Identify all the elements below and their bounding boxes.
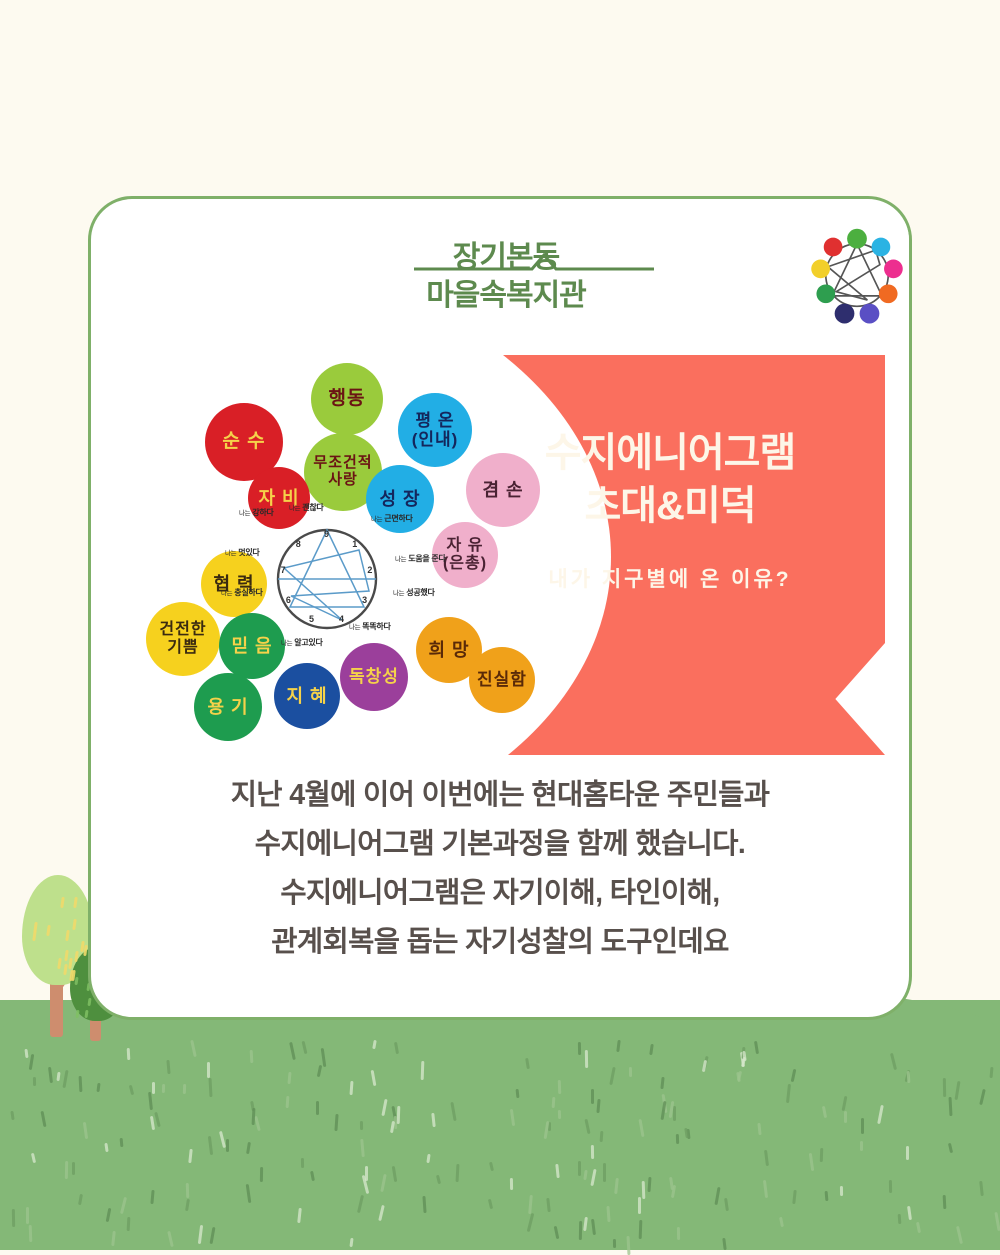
- grass-blade: [877, 1105, 884, 1124]
- grass-blade: [426, 1154, 430, 1163]
- grass-blade: [41, 1111, 47, 1127]
- enneagram-statement: 나는 도움을 준다: [395, 553, 446, 564]
- virtue-node: 용 기: [194, 673, 262, 741]
- grass-blade: [907, 1206, 912, 1220]
- grass-blade: [792, 1190, 796, 1204]
- grass-blade: [616, 1040, 620, 1052]
- grass-blade: [246, 1184, 252, 1203]
- grass-blade: [943, 1195, 947, 1209]
- grass-blade: [394, 1042, 399, 1054]
- main-content-card: 장기본동 마을속복지관: [88, 196, 912, 1020]
- enneagram-statement: 나는 괜찮다: [289, 502, 323, 513]
- grass-blade: [334, 1114, 338, 1131]
- grass-blade: [287, 1072, 291, 1084]
- enneagram-statement: 나는 똑똑하다: [349, 621, 391, 632]
- grass-blade: [62, 1070, 68, 1088]
- enneagram-statement: 나는 근면하다: [371, 513, 413, 524]
- grass-blade: [943, 1078, 946, 1097]
- grass-blade: [127, 1217, 131, 1231]
- grass-blade: [207, 1062, 210, 1078]
- enneagram-number: 7: [281, 565, 286, 575]
- grass-blade: [310, 1171, 315, 1181]
- grass-blade: [436, 1175, 441, 1184]
- grass-blade: [649, 1044, 654, 1055]
- grass-blade: [72, 1162, 75, 1175]
- grass-blade: [979, 1089, 986, 1105]
- grass-blade: [614, 1178, 619, 1194]
- grass-blade: [166, 1060, 170, 1074]
- grass-blade: [350, 1081, 354, 1095]
- organization-name: 장기본동 마을속복지관: [356, 239, 656, 314]
- body-line: 지난 4월에 이어 이번에는 현대홈타운 주민들과: [91, 771, 909, 820]
- grass-blade: [456, 1164, 460, 1182]
- grass-blade: [188, 1149, 192, 1163]
- promo-banner-image: 행동순 수무조건적 사랑자 비평 온 (인내)성 장겸 손자 유 (은총)협 력…: [121, 355, 885, 755]
- grass-blade: [842, 1096, 848, 1111]
- grass-blade: [120, 1138, 124, 1147]
- body-line: 관계회복을 돕는 자기성찰의 도구인데요: [91, 918, 909, 967]
- grass-blade: [316, 1101, 319, 1115]
- virtue-node: 진실함: [469, 647, 535, 713]
- grass-field: [0, 1000, 1000, 1250]
- grass-blade: [489, 1162, 494, 1171]
- grass-blade: [56, 1072, 60, 1081]
- grass-blade: [554, 1226, 560, 1239]
- grass-blade: [722, 1238, 726, 1250]
- grass-blade: [660, 1077, 664, 1089]
- grass-blade: [591, 1089, 594, 1104]
- enneagram-number: 8: [296, 539, 301, 549]
- grass-blade: [154, 1112, 161, 1127]
- grass-blade: [372, 1040, 377, 1049]
- grass-blade: [78, 1194, 83, 1205]
- grass-blade: [757, 1123, 761, 1135]
- grass-blade: [809, 1153, 814, 1171]
- grass-blade: [676, 1134, 679, 1144]
- banner-title: 수지에니어그램 초대&미덕: [475, 427, 865, 533]
- grass-blade: [741, 1057, 746, 1067]
- grass-blade: [365, 1166, 368, 1181]
- enneagram-number: 2: [367, 565, 372, 575]
- grass-blade: [29, 1054, 34, 1070]
- grass-blade: [378, 1205, 385, 1221]
- grass-blade: [527, 1213, 535, 1232]
- grass-blade: [162, 1084, 165, 1093]
- grass-blade: [381, 1099, 387, 1116]
- grass-blade: [106, 1208, 112, 1222]
- grass-blade: [825, 1191, 829, 1201]
- grass-blade: [528, 1195, 533, 1214]
- grass-blade: [421, 1061, 425, 1080]
- grass-blade: [600, 1131, 604, 1142]
- grass-blade: [791, 1069, 797, 1082]
- grass-blade: [488, 1199, 493, 1209]
- enneagram-symbol-icon: [797, 221, 912, 325]
- grass-blade: [638, 1119, 644, 1137]
- enneagram-core-icon: [271, 523, 383, 635]
- virtue-node: 평 온 (인내): [398, 393, 472, 467]
- grass-blade: [150, 1116, 155, 1130]
- grass-blade: [555, 1164, 559, 1178]
- grass-blade: [613, 1239, 616, 1248]
- grass-blade: [647, 1177, 651, 1192]
- grass-blade: [260, 1167, 263, 1182]
- grass-blade: [148, 1092, 153, 1110]
- grass-blade: [840, 1186, 843, 1196]
- grass-blade: [357, 1195, 364, 1213]
- grass-blade: [104, 1143, 108, 1152]
- grass-blade: [96, 1083, 100, 1092]
- grass-blade: [558, 1110, 561, 1119]
- grass-blade: [371, 1070, 377, 1086]
- grass-blade: [24, 1049, 28, 1058]
- grass-blade: [677, 1227, 680, 1240]
- grass-blade: [990, 1067, 994, 1078]
- grass-blade: [380, 1174, 386, 1192]
- grass-blade: [737, 1071, 742, 1081]
- grass-blade: [286, 1096, 290, 1108]
- grass-blade: [994, 1212, 1000, 1231]
- grass-blade: [916, 1222, 921, 1233]
- grass-blade: [629, 1067, 632, 1077]
- enneagram-number: 5: [309, 614, 314, 624]
- grass-blade: [606, 1206, 610, 1222]
- grass-blade: [226, 1139, 229, 1152]
- grass-blade: [609, 1067, 615, 1085]
- body-line: 수지에니어그램 기본과정을 함께 했습니다.: [91, 820, 909, 869]
- enneagram-statement: 나는 멋있다: [225, 547, 259, 558]
- grass-blade: [955, 1081, 961, 1100]
- grass-blade: [639, 1220, 643, 1239]
- grass-blade: [127, 1048, 131, 1060]
- grass-blade: [219, 1131, 226, 1148]
- grass-blade: [297, 1208, 302, 1223]
- grass-blade: [302, 1041, 308, 1054]
- virtue-node: 자 비: [248, 467, 310, 529]
- grass-blade: [209, 1078, 213, 1097]
- grass-blade: [861, 1118, 864, 1134]
- grass-blade: [190, 1040, 196, 1057]
- virtue-node: 협 력: [201, 551, 267, 617]
- grass-blade: [289, 1042, 296, 1060]
- grass-blade: [349, 1238, 353, 1247]
- grass-blade: [583, 1217, 588, 1231]
- enneagram-statement: 나는 충실하다: [221, 587, 263, 598]
- grass-blade: [671, 1185, 676, 1198]
- grass-blade: [603, 1163, 606, 1182]
- grass-blade: [949, 1097, 953, 1116]
- grass-blade: [844, 1111, 847, 1123]
- grass-blade: [627, 1236, 631, 1255]
- enneagram-number: 3: [362, 595, 367, 605]
- grass-blade: [129, 1085, 134, 1095]
- grass-blade: [906, 1146, 909, 1160]
- grass-blade: [152, 1082, 155, 1094]
- grass-blade: [29, 1225, 33, 1242]
- grass-blade: [186, 1183, 190, 1198]
- grass-blade: [583, 1170, 587, 1180]
- grass-blade: [591, 1219, 596, 1235]
- grass-blade: [578, 1042, 581, 1055]
- grass-blade: [948, 1143, 953, 1153]
- grass-blade: [301, 1158, 304, 1168]
- enneagram-number: 4: [339, 614, 344, 624]
- grass-blade: [642, 1181, 646, 1199]
- enneagram-number: 6: [286, 595, 291, 605]
- grass-blade: [83, 1122, 88, 1139]
- grass-blade: [510, 1109, 515, 1126]
- grass-blade: [889, 1180, 892, 1193]
- grass-blade: [183, 1084, 186, 1094]
- grass-blade: [167, 1231, 174, 1247]
- enneagram-diagram: 행동순 수무조건적 사랑자 비평 온 (인내)성 장겸 손자 유 (은총)협 력…: [121, 355, 661, 755]
- grass-blade: [198, 1225, 203, 1244]
- body-line: 수지에니어그램은 자기이해, 타인이해,: [91, 869, 909, 918]
- grass-blade: [590, 1169, 596, 1186]
- grass-blade: [822, 1106, 827, 1118]
- virtue-node: 건전한 기쁨: [146, 602, 220, 676]
- grass-blade: [579, 1221, 582, 1240]
- grass-blade: [317, 1065, 322, 1077]
- grass-blade: [111, 1231, 116, 1246]
- grass-blade: [208, 1136, 213, 1155]
- grass-blade: [210, 1227, 216, 1244]
- leaf-mark: [75, 1010, 79, 1018]
- grass-blade: [673, 1106, 676, 1121]
- grass-blade: [578, 1161, 581, 1176]
- grass-blade: [525, 1058, 530, 1069]
- card-header: 장기본동 마을속복지관: [91, 199, 909, 349]
- grass-blade: [591, 1145, 594, 1159]
- virtue-node: 행동: [311, 363, 383, 435]
- grass-blade: [360, 1139, 365, 1157]
- organization-logo: 장기본동 마을속복지관: [356, 231, 656, 307]
- grass-blade: [779, 1217, 784, 1227]
- grass-blade: [714, 1187, 720, 1205]
- enneagram-number: 1: [352, 539, 357, 549]
- grass-blade: [546, 1198, 550, 1212]
- enneagram-statement: 나는 성공했다: [393, 587, 435, 598]
- grass-blade: [10, 1111, 14, 1120]
- grass-blade: [516, 1089, 520, 1098]
- grass-blade: [254, 1116, 261, 1131]
- grass-blade: [26, 1207, 29, 1224]
- virtue-node: 독창성: [340, 643, 408, 711]
- grass-blade: [246, 1142, 251, 1154]
- grass-blade: [724, 1198, 729, 1211]
- grass-blade: [860, 1141, 863, 1151]
- grass-blade: [584, 1119, 590, 1134]
- grass-blade: [360, 1121, 363, 1130]
- grass-blade: [510, 1178, 513, 1190]
- grass-blade: [392, 1166, 397, 1182]
- grass-blade: [321, 1048, 327, 1067]
- banner-subtitle: 내가 지구별에 온 이유?: [475, 563, 865, 593]
- grass-blade: [33, 1077, 36, 1086]
- grass-blade: [431, 1113, 435, 1127]
- grass-blade: [764, 1150, 769, 1166]
- grass-blade: [450, 1102, 456, 1121]
- grass-blade: [150, 1190, 154, 1204]
- grass-blade: [585, 1050, 588, 1068]
- enneagram-number: 9: [324, 529, 329, 539]
- grass-blade: [754, 1041, 759, 1054]
- grass-blade: [12, 1209, 15, 1227]
- grass-blade: [898, 1214, 902, 1224]
- grass-blade: [79, 1076, 83, 1092]
- grass-blade: [638, 1197, 641, 1214]
- body-description: 지난 4월에 이어 이번에는 현대홈타운 주민들과수지에니어그램 기본과정을 함…: [91, 771, 909, 967]
- grass-blade: [552, 1097, 556, 1108]
- grass-blade: [558, 1080, 561, 1094]
- grass-blade: [65, 1161, 68, 1179]
- grass-blade: [185, 1199, 190, 1211]
- grass-blade: [397, 1106, 401, 1124]
- grass-blade: [596, 1099, 600, 1113]
- virtue-node: 믿 음: [219, 613, 285, 679]
- virtue-node: 지 혜: [274, 663, 340, 729]
- grass-blade: [956, 1226, 963, 1244]
- grass-blade: [890, 1053, 897, 1070]
- enneagram-statement: 나는 알고있다: [281, 637, 323, 648]
- grass-blade: [763, 1180, 768, 1198]
- grass-blade: [820, 1148, 823, 1162]
- grass-blade: [48, 1067, 53, 1083]
- grass-blade: [120, 1197, 127, 1214]
- grass-blade: [31, 1153, 36, 1163]
- grass-blade: [422, 1196, 426, 1213]
- grass-blade: [786, 1084, 791, 1103]
- enneagram-statement: 나는 강하다: [239, 507, 273, 518]
- grass-blade: [979, 1181, 984, 1196]
- grass-blade: [250, 1050, 254, 1063]
